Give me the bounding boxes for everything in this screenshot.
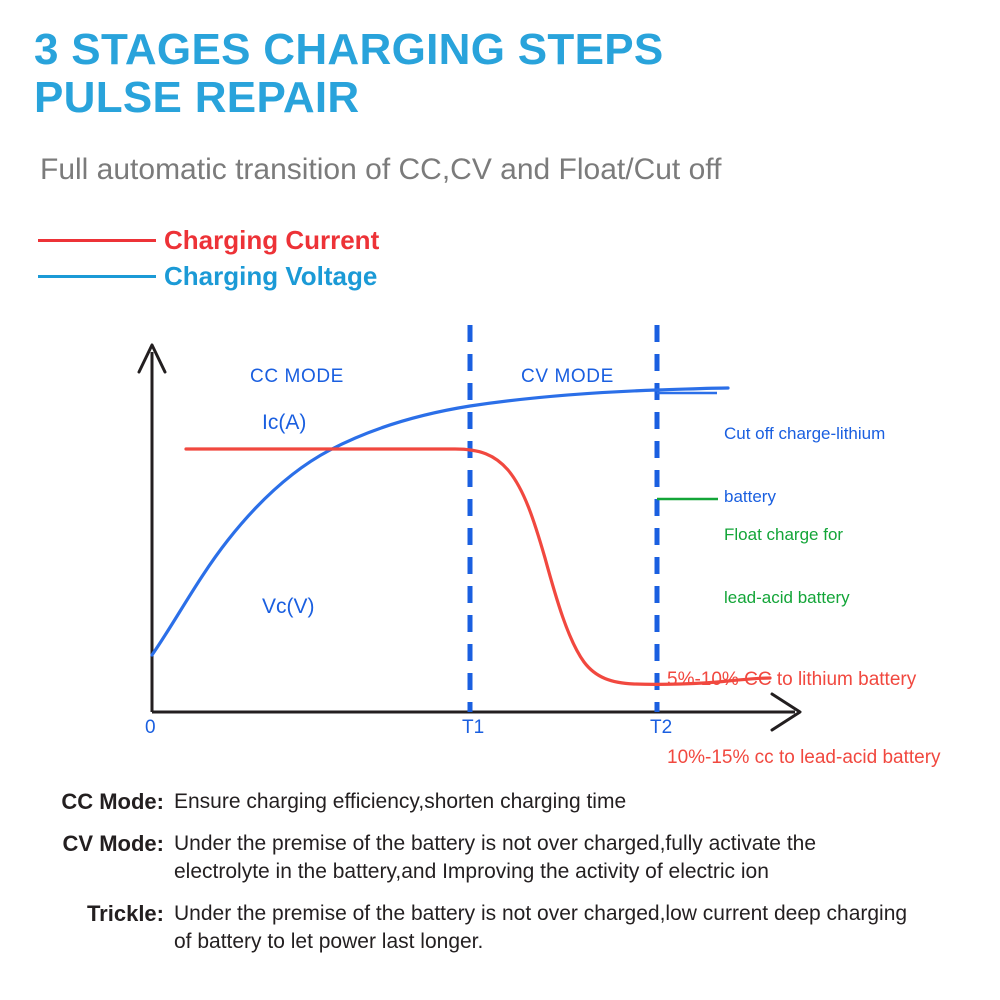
legend-swatch-voltage-icon (38, 275, 156, 278)
y-axis (139, 345, 165, 712)
annotation-cut-off-lithium: Cut off charge-lithium battery (724, 381, 885, 549)
mode-descriptions: CC Mode: Ensure charging efficiency,shor… (36, 788, 986, 970)
legend-item-charging-current: Charging Current (38, 222, 379, 258)
description-cv-mode-line-1: Under the premise of the battery is not … (174, 830, 986, 858)
description-text-trickle: Under the premise of the battery is not … (174, 900, 986, 956)
curve-label-current: Ic(A) (262, 412, 306, 433)
y-axis-arrow-icon (139, 345, 165, 372)
page-subtitle: Full automatic transition of CC,CV and F… (40, 152, 721, 188)
annotation-trickle-current-line-1: 5%-10% CC to lithium battery (667, 667, 941, 693)
annotation-trickle-current-line-2: 10%-15% cc to lead-acid battery (667, 745, 941, 771)
series-charging-current (186, 449, 770, 684)
description-cv-mode-line-2: electrolyte in the battery,and Improving… (174, 858, 986, 886)
description-cc-mode-line-1: Ensure charging efficiency,shorten charg… (174, 788, 986, 816)
x-tick-t1: T1 (462, 717, 484, 738)
description-text-cc-mode: Ensure charging efficiency,shorten charg… (174, 788, 986, 816)
annotation-cut-off-lithium-line-2: battery (724, 486, 885, 507)
annotation-float-charge-line-1: Float charge for (724, 524, 850, 545)
x-tick-0: 0 (145, 717, 156, 738)
description-trickle-line-1: Under the premise of the battery is not … (174, 900, 986, 928)
description-term-cc-mode: CC Mode: (36, 788, 174, 816)
x-axis (152, 694, 800, 730)
x-axis-arrow-icon (772, 694, 800, 730)
curve-label-voltage: Vc(V) (262, 596, 315, 617)
annotation-float-charge: Float charge for lead-acid battery (724, 482, 850, 650)
page-title-line-2: PULSE REPAIR (34, 74, 934, 122)
legend-swatch-current-icon (38, 239, 156, 242)
chart-legend: Charging Current Charging Voltage (38, 222, 379, 294)
legend-item-charging-voltage: Charging Voltage (38, 258, 379, 294)
annotation-cut-off-lithium-line-1: Cut off charge-lithium (724, 423, 885, 444)
description-row-cc-mode: CC Mode: Ensure charging efficiency,shor… (36, 788, 986, 816)
page-title-line-1: 3 STAGES CHARGING STEPS (34, 26, 934, 74)
description-term-trickle: Trickle: (36, 900, 174, 928)
description-term-cv-mode: CV Mode: (36, 830, 174, 858)
legend-label-charging-current: Charging Current (164, 225, 379, 255)
region-label-cv-mode: CV MODE (521, 366, 614, 387)
description-trickle-line-2: of battery to let power last longer. (174, 928, 986, 956)
description-row-cv-mode: CV Mode: Under the premise of the batter… (36, 830, 986, 886)
description-row-trickle: Trickle: Under the premise of the batter… (36, 900, 986, 956)
legend-label-charging-voltage: Charging Voltage (164, 261, 377, 291)
x-tick-t2: T2 (650, 717, 672, 738)
region-label-cc-mode: CC MODE (250, 366, 344, 387)
annotation-float-charge-line-2: lead-acid battery (724, 587, 850, 608)
page-title: 3 STAGES CHARGING STEPS PULSE REPAIR (34, 26, 934, 122)
description-text-cv-mode: Under the premise of the battery is not … (174, 830, 986, 886)
series-charging-voltage (152, 388, 728, 655)
